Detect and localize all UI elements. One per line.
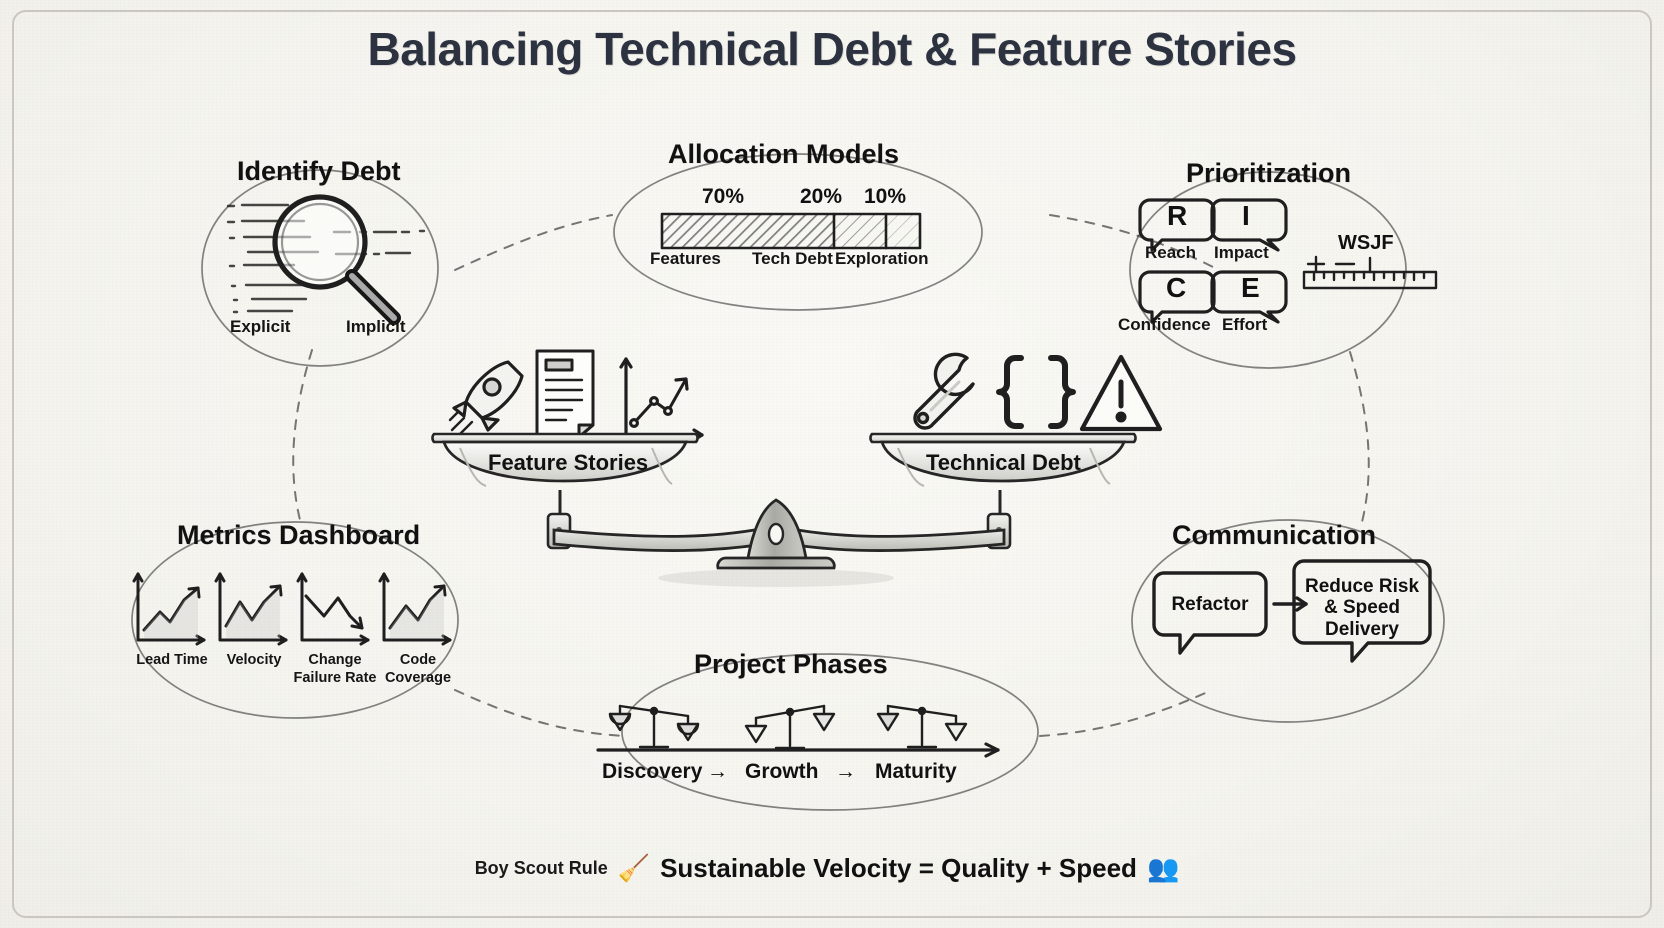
rice-label-confidence: Confidence — [1118, 315, 1211, 335]
phase-label-0: Discovery — [602, 760, 702, 784]
rice-letter-E: E — [1241, 272, 1260, 304]
metric-label-1: Velocity — [212, 652, 296, 668]
rice-label-reach: Reach — [1145, 243, 1196, 263]
identify-debt-title: Identify Debt — [237, 156, 401, 187]
phase-label-2: Maturity — [875, 760, 957, 784]
metrics-dashboard-title: Metrics Dashboard — [177, 520, 420, 551]
phase-arrow-1: → — [835, 760, 856, 784]
metric-label-3: Code — [376, 652, 460, 668]
allocation-pct-2: 10% — [864, 185, 906, 209]
phases-timeline-arrow — [596, 742, 1014, 762]
metric-label-3-line2: Coverage — [370, 670, 466, 686]
broom-icon: 🧹 — [618, 853, 650, 883]
rice-letter-I: I — [1242, 200, 1250, 232]
footer: Boy Scout Rule 🧹 Sustainable Velocity = … — [0, 853, 1664, 884]
allocation-pct-1: 20% — [800, 185, 842, 209]
ruler-scale-icon — [1300, 250, 1440, 292]
allocation-models-title: Allocation Models — [668, 139, 899, 170]
balance-left-label: Feature Stories — [488, 450, 648, 476]
allocation-label-1: Tech Debt — [752, 249, 833, 269]
rice-letter-R: R — [1167, 200, 1187, 232]
phase-label-1: Growth — [745, 760, 819, 784]
metric-chart-3 — [376, 572, 458, 648]
project-phases-title: Project Phases — [694, 649, 888, 680]
metric-label-2: Change — [292, 652, 378, 668]
metric-chart-1 — [212, 572, 294, 648]
magnifier-over-list-icon — [224, 200, 424, 320]
phase-arrow-0: → — [707, 760, 728, 784]
balance-fulcrum-icon — [420, 418, 1160, 578]
rice-letter-C: C — [1166, 272, 1186, 304]
allocation-pct-0: 70% — [702, 185, 744, 209]
footer-main-text: Sustainable Velocity = Quality + Speed — [660, 853, 1137, 883]
prioritization-title: Prioritization — [1186, 158, 1351, 189]
metric-label-0: Lead Time — [130, 652, 214, 668]
stacked-allocation-bar-icon — [660, 212, 922, 250]
identify-debt-label-implicit: Implicit — [346, 317, 406, 337]
allocation-label-0: Features — [650, 249, 721, 269]
people-icon: 👥 — [1147, 853, 1179, 883]
metric-chart-2 — [294, 572, 376, 648]
metric-chart-0 — [130, 572, 212, 648]
identify-debt-label-explicit: Explicit — [230, 317, 290, 337]
balance-right-label: Technical Debt — [926, 450, 1081, 476]
communication-from-text: Refactor — [1152, 594, 1268, 615]
rice-label-impact: Impact — [1214, 243, 1269, 263]
communication-title: Communication — [1172, 520, 1376, 551]
infographic-canvas: Balancing Technical Debt & Feature Stori… — [0, 0, 1664, 928]
communication-to-text: Reduce Risk & Speed Delivery — [1292, 576, 1432, 640]
footer-boy-scout-rule: Boy Scout Rule — [475, 858, 608, 878]
allocation-label-2: Exploration — [835, 249, 929, 269]
rice-label-effort: Effort — [1222, 315, 1267, 335]
